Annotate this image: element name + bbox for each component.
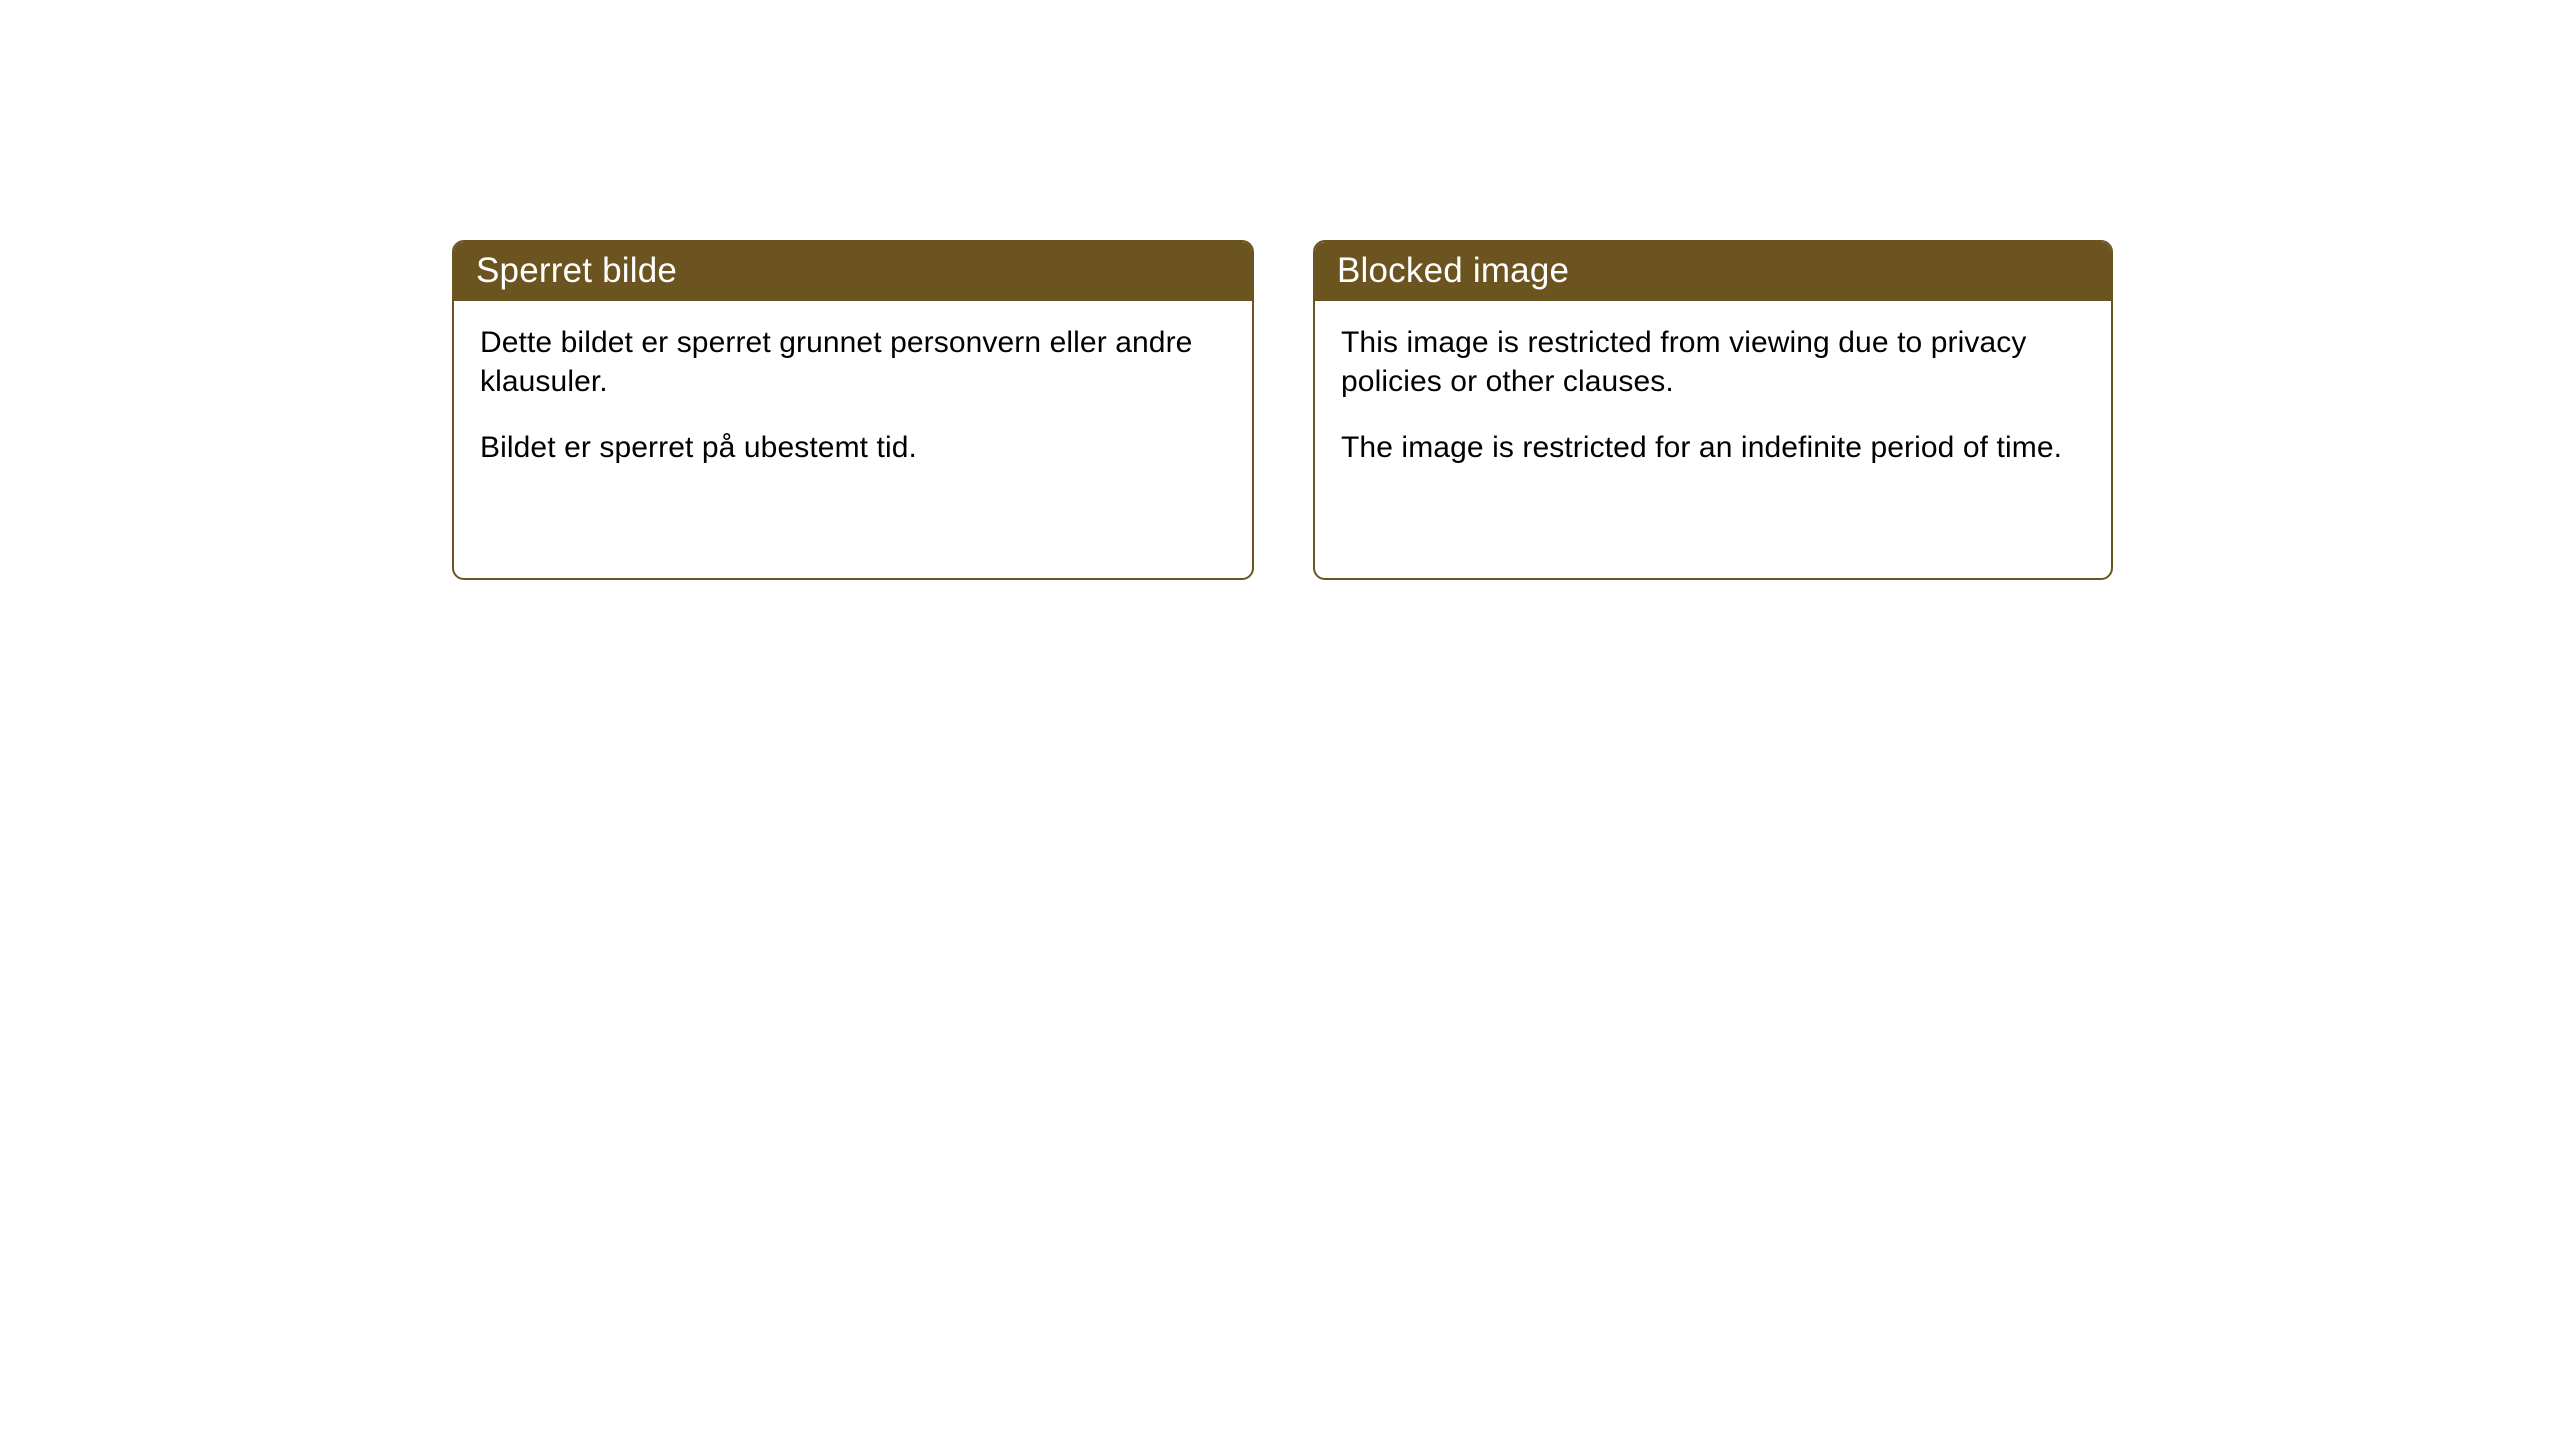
card-header-english: Blocked image bbox=[1313, 240, 2113, 301]
card-title-english: Blocked image bbox=[1337, 253, 1569, 288]
card-paragraph-reason-norwegian: Dette bildet er sperret grunnet personve… bbox=[480, 323, 1226, 401]
card-paragraph-reason-english: This image is restricted from viewing du… bbox=[1341, 323, 2085, 401]
blocked-image-notice-card-english: Blocked image This image is restricted f… bbox=[1313, 240, 2113, 580]
blocked-image-notice-card-norwegian: Sperret bilde Dette bildet er sperret gr… bbox=[452, 240, 1254, 580]
page-root: Sperret bilde Dette bildet er sperret gr… bbox=[0, 0, 2560, 1440]
card-body-norwegian: Dette bildet er sperret grunnet personve… bbox=[454, 301, 1252, 467]
card-paragraph-duration-norwegian: Bildet er sperret på ubestemt tid. bbox=[480, 428, 1226, 467]
card-title-norwegian: Sperret bilde bbox=[476, 253, 677, 288]
card-body-english: This image is restricted from viewing du… bbox=[1315, 301, 2111, 467]
card-paragraph-duration-english: The image is restricted for an indefinit… bbox=[1341, 428, 2085, 467]
card-header-norwegian: Sperret bilde bbox=[452, 240, 1254, 301]
